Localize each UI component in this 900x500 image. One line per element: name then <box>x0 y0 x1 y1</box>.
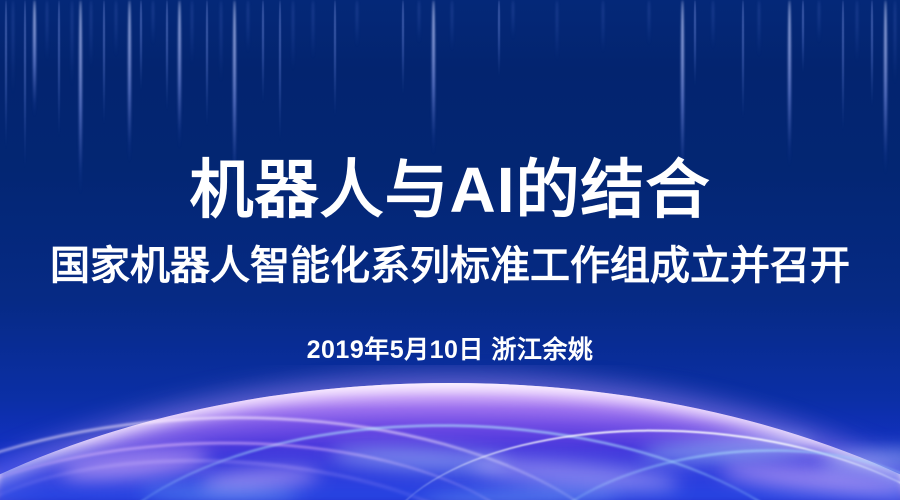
event-date-location: 2019年5月10日 浙江余姚 <box>0 330 900 366</box>
page-subtitle: 国家机器人智能化系列标准工作组成立并召开 <box>0 245 900 288</box>
event-poster: 机器人与AI的结合 国家机器人智能化系列标准工作组成立并召开 2019年5月10… <box>0 0 900 500</box>
page-title: 机器人与AI的结合 <box>0 158 900 222</box>
poster-text-block: 机器人与AI的结合 国家机器人智能化系列标准工作组成立并召开 2019年5月10… <box>0 0 900 500</box>
